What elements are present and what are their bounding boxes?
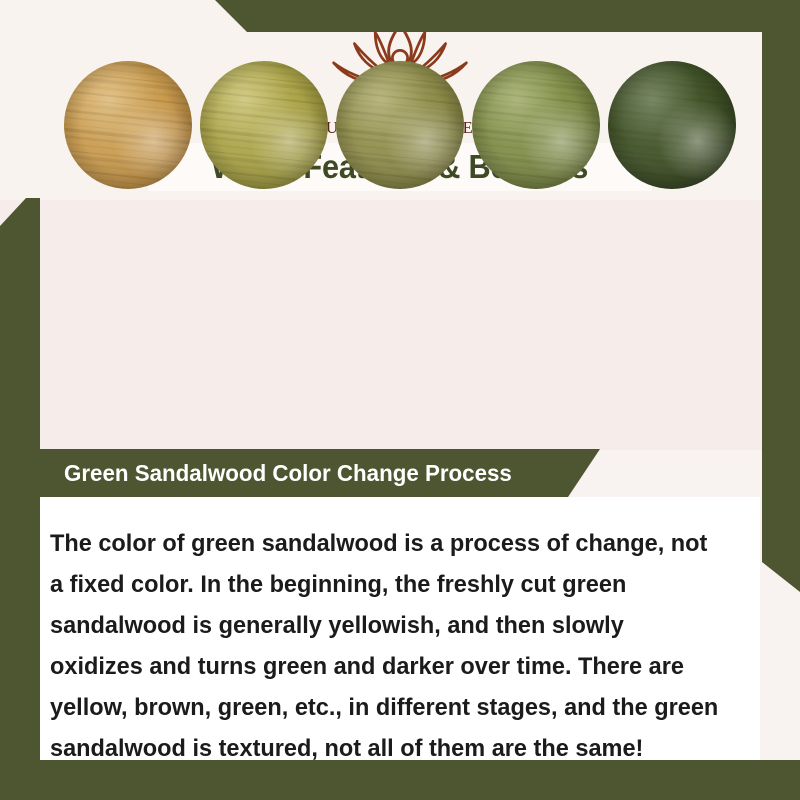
bead-stage-3 [336, 61, 464, 189]
section-subtitle: Green Sandalwood Color Change Process [64, 460, 512, 487]
frame-bottom-bar [0, 760, 800, 800]
body-paragraph: The color of green sandalwood is a proce… [50, 523, 722, 769]
bead-stage-4 [472, 61, 600, 189]
bead-highlight [64, 61, 192, 189]
bead-row [0, 0, 800, 250]
frame-left-bar [0, 198, 40, 800]
body-copy: The color of green sandalwood is a proce… [50, 523, 722, 769]
poster-canvas: BUDDHA STONES Wood Features & Benefits G… [0, 0, 800, 800]
bead-stage-5 [608, 61, 736, 189]
bead-stage-2 [200, 61, 328, 189]
bead-highlight [200, 61, 328, 189]
body-panel: The color of green sandalwood is a proce… [40, 497, 760, 760]
frame-right-bar [762, 0, 800, 592]
bead-highlight [608, 61, 736, 189]
bead-highlight [336, 61, 464, 189]
section-subtitle-banner: Green Sandalwood Color Change Process [40, 449, 600, 497]
bead-stage-1 [64, 61, 192, 189]
bead-highlight [472, 61, 600, 189]
